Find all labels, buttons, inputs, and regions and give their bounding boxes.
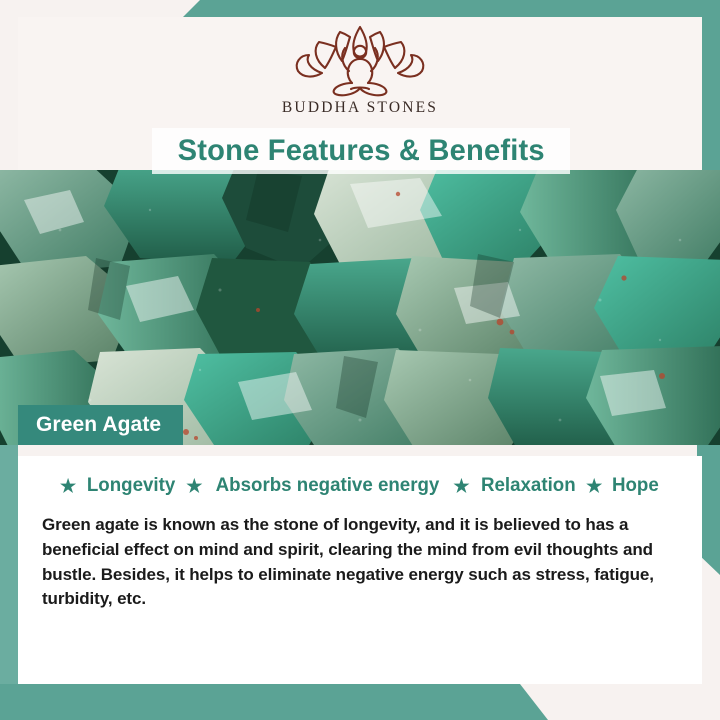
benefit-item-longevity: Longevity [87, 474, 175, 497]
star-icon: ★ [60, 477, 76, 495]
star-icon: ★ [453, 477, 469, 495]
benefits-list: ★ Longevity ★ Absorbs negative energy ★ … [18, 474, 702, 497]
infographic-page: BUDDHA STONES [0, 0, 720, 720]
page-title-banner: Stone Features & Benefits [152, 128, 570, 174]
brand-name: BUDDHA STONES [282, 99, 438, 117]
page-title: Stone Features & Benefits [177, 134, 544, 168]
stone-name-banner: Green Agate [18, 405, 183, 445]
benefit-item-hope: Hope [612, 474, 659, 497]
stone-description: Green agate is known as the stone of lon… [42, 513, 678, 612]
lotus-meditation-icon [292, 25, 428, 97]
star-icon: ★ [186, 477, 202, 495]
star-icon: ★ [586, 477, 602, 495]
bottom-teal-band [0, 684, 560, 720]
content-card: ★ Longevity ★ Absorbs negative energy ★ … [18, 456, 702, 684]
brand-logo: BUDDHA STONES [282, 25, 438, 117]
stone-name: Green Agate [36, 413, 161, 437]
top-teal-band [0, 0, 720, 17]
benefit-item-absorbs-negative-energy: Absorbs negative energy [216, 474, 440, 497]
stone-photo [0, 170, 720, 445]
benefit-item-relaxation: Relaxation [480, 474, 575, 497]
